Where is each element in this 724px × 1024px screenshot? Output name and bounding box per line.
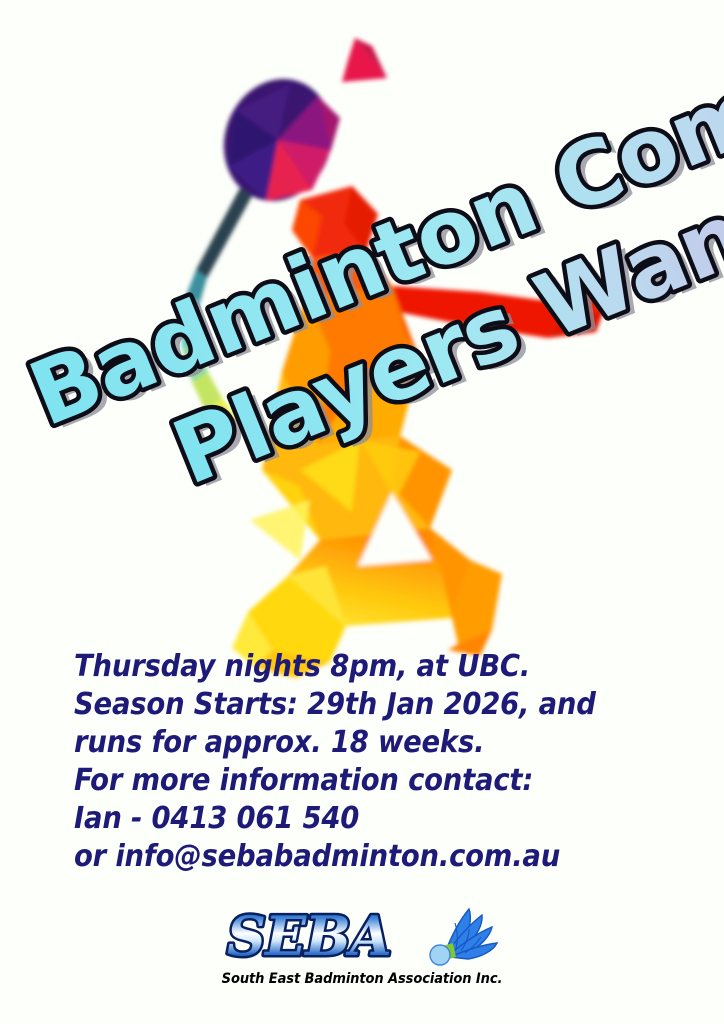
- body-line-phone[interactable]: Ian - 0413 061 540: [74, 800, 694, 838]
- headline-line-2: Players Wanted: [159, 121, 724, 504]
- artwork-shapes: [180, 38, 616, 678]
- headline-line-2-outline: Players Wanted: [159, 121, 724, 504]
- headline-block: Badminton Competition Badminton Competit…: [0, 0, 724, 660]
- player-shoulder: [306, 252, 392, 312]
- body-line-season: Season Starts: 29th Jan 2026, and: [74, 686, 694, 724]
- headline-line-2-shadow: Players Wanted: [168, 125, 724, 508]
- headline-line-1: Badminton Competition: [16, 0, 724, 446]
- seba-wordmark-fill: SEBA: [227, 905, 391, 968]
- headline-line-1-outline: Badminton Competition: [16, 0, 724, 446]
- racket-shaft: [180, 188, 252, 436]
- player-arm: [392, 286, 616, 338]
- player-trailing-leg: [448, 560, 502, 656]
- seba-logo: SEBA SEBA South East Badm: [0, 903, 724, 987]
- logo-mark: SEBA SEBA: [223, 903, 501, 969]
- body-line-email[interactable]: or info@sebabadminton.com.au: [74, 838, 694, 876]
- player-legs-upper: [288, 528, 470, 626]
- poster: Badminton Competition Badminton Competit…: [0, 0, 724, 1024]
- shuttlecock-graphic: [342, 38, 387, 82]
- player-head: [292, 186, 378, 258]
- player-glow-facets: [250, 440, 420, 560]
- badminton-player-artwork: [0, 0, 724, 700]
- headline-line-2-group: Players Wanted Players Wanted Players Wa…: [159, 119, 724, 511]
- shuttlecock-icon: [425, 903, 501, 969]
- body-copy-block: Thursday nights 8pm, at UBC. Season Star…: [74, 648, 694, 876]
- body-line-venue: Thursday nights 8pm, at UBC.: [74, 648, 694, 686]
- shuttle-cork: [430, 943, 456, 965]
- knee-negative-space: [358, 492, 432, 566]
- body-line-duration: runs for approx. 18 weeks.: [74, 724, 694, 762]
- player-hips: [262, 372, 452, 540]
- seba-wordmark: SEBA SEBA: [223, 905, 419, 969]
- player-torso: [282, 286, 420, 444]
- racket-head: [207, 64, 349, 217]
- logo-tagline: South East Badminton Association Inc.: [222, 971, 503, 987]
- body-line-contact-cta: For more information contact:: [74, 762, 694, 800]
- headline-line-1-shadow: Badminton Competition: [25, 0, 724, 450]
- headline-line-1-group: Badminton Competition Badminton Competit…: [16, 0, 724, 453]
